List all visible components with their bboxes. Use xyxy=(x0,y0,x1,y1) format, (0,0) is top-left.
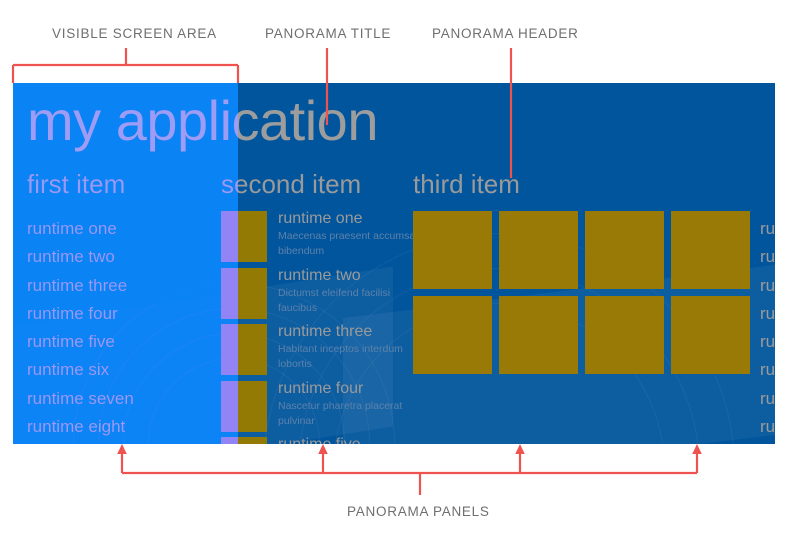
list-item[interactable]: runtime two Dictumst eleifend facilisi f… xyxy=(221,268,406,319)
arrowhead-panel-3 xyxy=(515,444,525,454)
grid-tile[interactable] xyxy=(413,296,492,374)
grid-tile[interactable] xyxy=(499,211,578,289)
grid-tile[interactable] xyxy=(671,296,750,374)
arrowhead-panel-2 xyxy=(318,444,328,454)
item-description-line-2: lobortis xyxy=(278,357,403,372)
panel-header-second-item: second item xyxy=(221,169,361,200)
list-item[interactable]: runtime three Habitant inceptos interdum… xyxy=(221,324,406,375)
item-title: runtime five xyxy=(278,434,361,444)
list-item[interactable]: runtime five xyxy=(221,437,406,444)
list-item[interactable]: runtime seven xyxy=(27,385,223,413)
item-title: runtime one xyxy=(278,208,421,229)
item-description-line-2: faucibus xyxy=(278,301,390,316)
list-item[interactable]: ru xyxy=(760,272,775,300)
item-title: runtime four xyxy=(278,378,402,399)
item-description-line-1: Maecenas praesent accumsan xyxy=(278,229,421,244)
annotation-label-panorama-header: PANORAMA HEADER xyxy=(432,26,579,41)
panel-header-third-item: third item xyxy=(413,169,520,200)
item-description-line-2: bibendum xyxy=(278,244,421,259)
item-title: runtime two xyxy=(278,265,390,286)
list-item[interactable]: runtime four xyxy=(27,300,223,328)
list-item[interactable]: runtime six xyxy=(27,356,223,384)
arrowhead-panel-1 xyxy=(117,444,127,454)
list-item[interactable]: runtime five xyxy=(27,328,223,356)
list-item[interactable]: runtime three xyxy=(27,272,223,300)
grid-tile[interactable] xyxy=(671,211,750,289)
item-description-line-1: Dictumst eleifend facilisi xyxy=(278,286,390,301)
panorama-panel-fourth-item[interactable]: ru ru ru ru ru ru ru ru xyxy=(760,83,775,444)
item-thumbnail xyxy=(221,324,267,375)
runtime-list-fourth-item[interactable]: ru ru ru ru ru ru ru ru xyxy=(760,215,775,441)
item-thumbnail xyxy=(221,211,267,262)
list-item[interactable]: ru xyxy=(760,413,775,441)
panorama-panel-third-item[interactable]: third item xyxy=(413,83,758,444)
item-thumbnail xyxy=(221,268,267,319)
item-title: runtime three xyxy=(278,321,403,342)
item-description-line-2: pulvinar xyxy=(278,414,402,429)
runtime-list-second-item[interactable]: runtime one Maecenas praesent accumsan b… xyxy=(221,211,406,444)
item-description-line-1: Nascetur pharetra placerat xyxy=(278,399,402,414)
list-item[interactable]: runtime one Maecenas praesent accumsan b… xyxy=(221,211,406,262)
list-item[interactable]: ru xyxy=(760,300,775,328)
list-item[interactable]: ru xyxy=(760,385,775,413)
annotation-label-visible-screen-area: VISIBLE SCREEN AREA xyxy=(52,26,217,41)
list-item[interactable]: ru xyxy=(760,243,775,271)
list-item[interactable]: runtime eight xyxy=(27,413,223,441)
arrowhead-panel-4 xyxy=(692,444,702,454)
panel-header-first-item: first item xyxy=(27,169,125,200)
grid-tile[interactable] xyxy=(585,296,664,374)
list-item[interactable]: ru xyxy=(760,356,775,384)
list-item[interactable]: runtime one xyxy=(27,215,223,243)
arrowheads xyxy=(117,444,702,454)
annotation-label-panorama-panels: PANORAMA PANELS xyxy=(347,504,490,519)
item-thumbnail xyxy=(221,381,267,432)
list-item[interactable]: runtime two xyxy=(27,243,223,271)
list-item[interactable]: runtime four Nascetur pharetra placerat … xyxy=(221,381,406,432)
list-item[interactable]: ru xyxy=(760,215,775,243)
grid-tile[interactable] xyxy=(585,211,664,289)
item-description-line-1: Habitant inceptos interdum xyxy=(278,342,403,357)
panorama-control[interactable]: my application first item runtime one ru… xyxy=(13,83,775,444)
screenshot-canvas: VISIBLE SCREEN AREA PANORAMA TITLE PANOR… xyxy=(0,0,812,535)
panorama-panel-second-item[interactable]: second item runtime one Maecenas praesen… xyxy=(221,83,406,444)
grid-tile[interactable] xyxy=(499,296,578,374)
annotation-label-panorama-title: PANORAMA TITLE xyxy=(265,26,391,41)
item-thumbnail xyxy=(221,437,267,444)
runtime-list-first-item[interactable]: runtime one runtime two runtime three ru… xyxy=(27,215,223,441)
grid-tile[interactable] xyxy=(413,211,492,289)
panorama-panel-first-item[interactable]: first item runtime one runtime two runti… xyxy=(27,83,223,444)
list-item[interactable]: ru xyxy=(760,328,775,356)
